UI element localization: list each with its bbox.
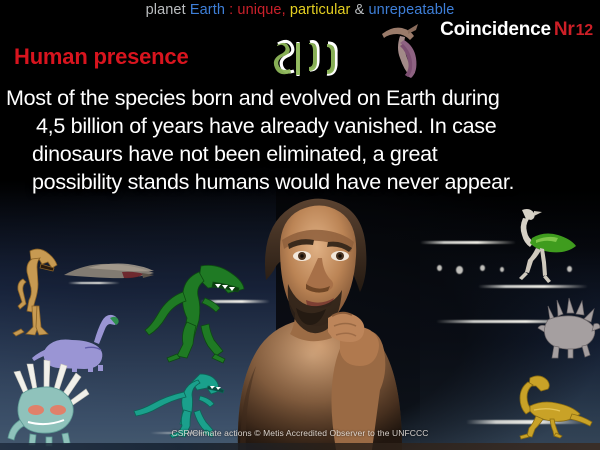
light-dot	[500, 267, 504, 272]
pterosaur-purple-icon	[378, 18, 422, 80]
long-neck-dinosaur-green-icon	[506, 206, 578, 282]
header-subtitle: planet Earth : unique, particular & unre…	[0, 2, 600, 18]
page-title: Human presence	[14, 44, 189, 70]
footer-bar	[0, 443, 600, 450]
subtitle-ampersand: &	[355, 2, 369, 18]
body-line-4: possibility stands humans would have nev…	[0, 168, 600, 196]
subtitle-planet: planet	[146, 2, 190, 18]
light-dot	[437, 265, 442, 271]
light-streak	[478, 285, 588, 288]
light-dot	[480, 265, 485, 271]
subtitle-unrepeatable: unrepeatable	[369, 2, 455, 18]
body-line-2: 4,5 billion of years have already vanish…	[0, 112, 600, 140]
kentrosaurus-grey-icon	[538, 298, 600, 358]
coincidence-number: 12	[576, 22, 593, 39]
neanderthal-figure	[232, 188, 408, 450]
body-paragraph: Most of the species born and evolved on …	[0, 84, 600, 196]
pterodactyl-grey-icon	[62, 258, 156, 288]
slide-root: planet Earth : unique, particular & unre…	[0, 0, 600, 450]
footer-credit: CSR/Climate actions © Metis Accredited O…	[0, 428, 600, 438]
subtitle-unique: unique	[237, 2, 281, 18]
light-streak	[420, 241, 516, 244]
coincidence-label: CoincidenceNr12	[440, 19, 593, 41]
subtitle-comma: ,	[282, 2, 290, 18]
chromosome-cluster-icon	[268, 36, 340, 82]
coincidence-nr: Nr	[554, 19, 575, 40]
subtitle-earth: Earth	[190, 2, 229, 18]
dinosaur-gold-icon	[510, 372, 594, 436]
subtitle-particular: particular	[290, 2, 355, 18]
body-line-1: Most of the species born and evolved on …	[0, 84, 600, 112]
light-dot	[456, 266, 463, 274]
body-line-3: dinosaurs have not been eliminated, a gr…	[0, 140, 600, 168]
coincidence-word: Coincidence	[440, 19, 551, 40]
